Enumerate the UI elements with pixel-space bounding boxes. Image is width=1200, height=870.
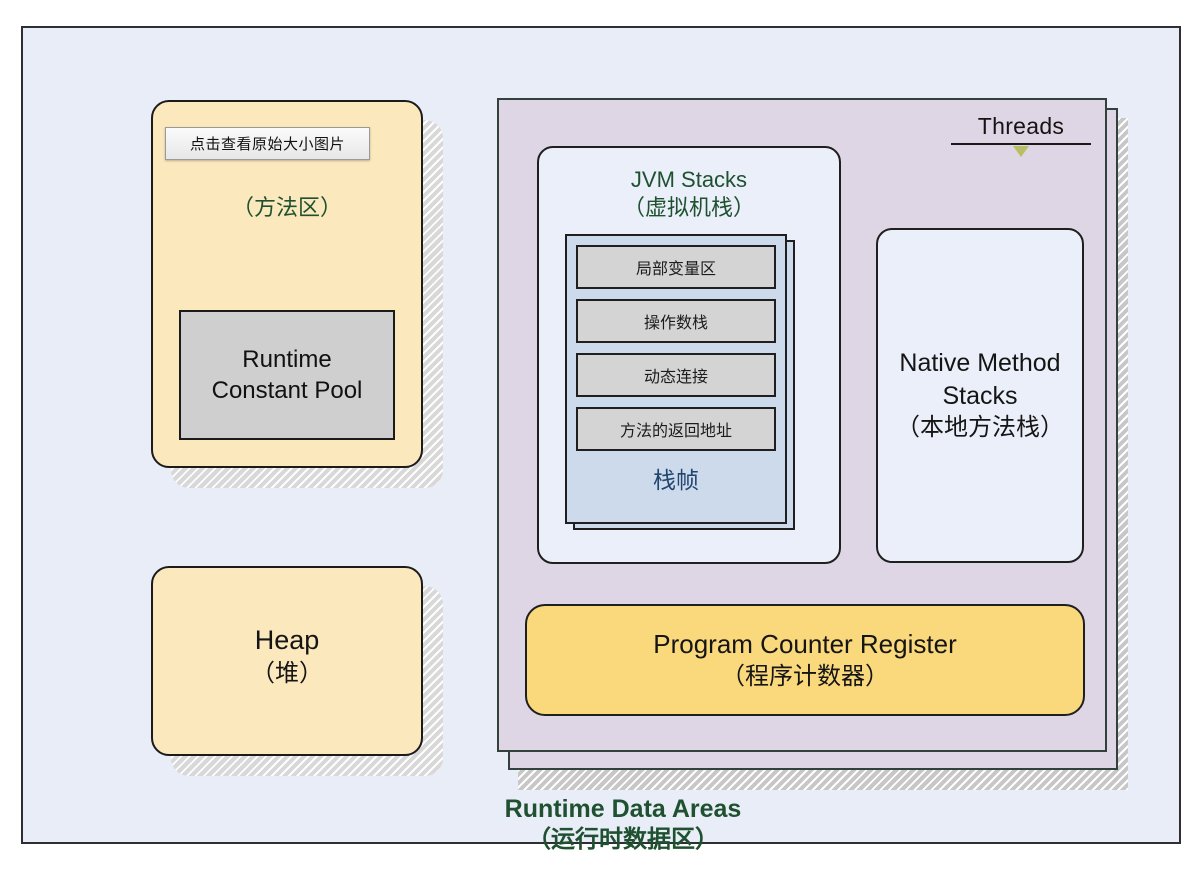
- diagram-caption-en: Runtime Data Areas: [505, 795, 742, 823]
- threads-divider: [951, 143, 1091, 145]
- native-method-stacks-title-en: Native Method Stacks: [899, 349, 1060, 410]
- threads-panel[interactable]: Threads JVM Stacks （虚拟机栈） 局部变量区 操作数: [497, 98, 1107, 752]
- program-counter-register-card[interactable]: Program Counter Register （程序计数器）: [525, 604, 1085, 716]
- jvm-stacks-title: JVM Stacks （虚拟机栈）: [539, 166, 839, 221]
- frame-item-label: 操作数栈: [644, 309, 708, 333]
- method-area-title-zh: （方法区）: [153, 194, 421, 222]
- diagram-caption-zh: （运行时数据区）: [463, 825, 783, 855]
- threads-header: Threads: [951, 114, 1091, 145]
- frame-item-local-variables[interactable]: 局部变量区: [576, 245, 776, 289]
- view-original-size-tooltip[interactable]: 点击查看原始大小图片: [165, 127, 370, 160]
- frame-item-operand-stack[interactable]: 操作数栈: [576, 299, 776, 343]
- jvm-stacks-title-en: JVM Stacks: [631, 167, 747, 192]
- native-method-stacks-label: Native Method Stacks （本地方法栈）: [878, 347, 1082, 443]
- heap-title-zh: （堆）: [153, 658, 421, 689]
- diagram-caption: Runtime Data Areas （运行时数据区）: [463, 794, 783, 855]
- threads-marker-triangle-icon: [1013, 146, 1029, 157]
- diagram-canvas: （方法区） Runtime Constant Pool Heap （堆） Thr…: [0, 0, 1200, 870]
- jvm-stacks-title-zh: （虚拟机栈）: [623, 195, 755, 220]
- pc-register-title-en: Program Counter Register: [653, 629, 956, 659]
- heap-label: Heap （堆）: [153, 623, 421, 689]
- heap-card[interactable]: Heap （堆）: [151, 566, 423, 756]
- program-counter-register-label: Program Counter Register （程序计数器）: [653, 628, 956, 693]
- frame-item-dynamic-linking[interactable]: 动态连接: [576, 353, 776, 397]
- runtime-constant-pool-box[interactable]: Runtime Constant Pool: [179, 310, 395, 440]
- frame-item-label: 方法的返回地址: [620, 417, 732, 441]
- stack-frame-label: 栈帧: [576, 461, 776, 495]
- threads-title: Threads: [951, 114, 1091, 139]
- runtime-constant-pool-label: Runtime Constant Pool: [212, 344, 363, 406]
- frame-item-label: 动态连接: [644, 363, 708, 387]
- frame-item-label: 局部变量区: [636, 255, 716, 279]
- jvm-stacks-card[interactable]: JVM Stacks （虚拟机栈） 局部变量区 操作数栈 动态连接 方法的: [537, 146, 841, 564]
- runtime-constant-pool-line1: Runtime: [242, 346, 331, 373]
- heap-title-en: Heap: [255, 625, 320, 655]
- runtime-constant-pool-line2: Constant Pool: [212, 377, 363, 404]
- native-method-stacks-title-zh: （本地方法栈）: [884, 412, 1076, 443]
- pc-register-title-zh: （程序计数器）: [653, 661, 956, 692]
- stack-frame-box[interactable]: 局部变量区 操作数栈 动态连接 方法的返回地址 栈帧: [565, 234, 787, 524]
- frame-item-return-address[interactable]: 方法的返回地址: [576, 407, 776, 451]
- native-method-stacks-card[interactable]: Native Method Stacks （本地方法栈）: [876, 228, 1084, 563]
